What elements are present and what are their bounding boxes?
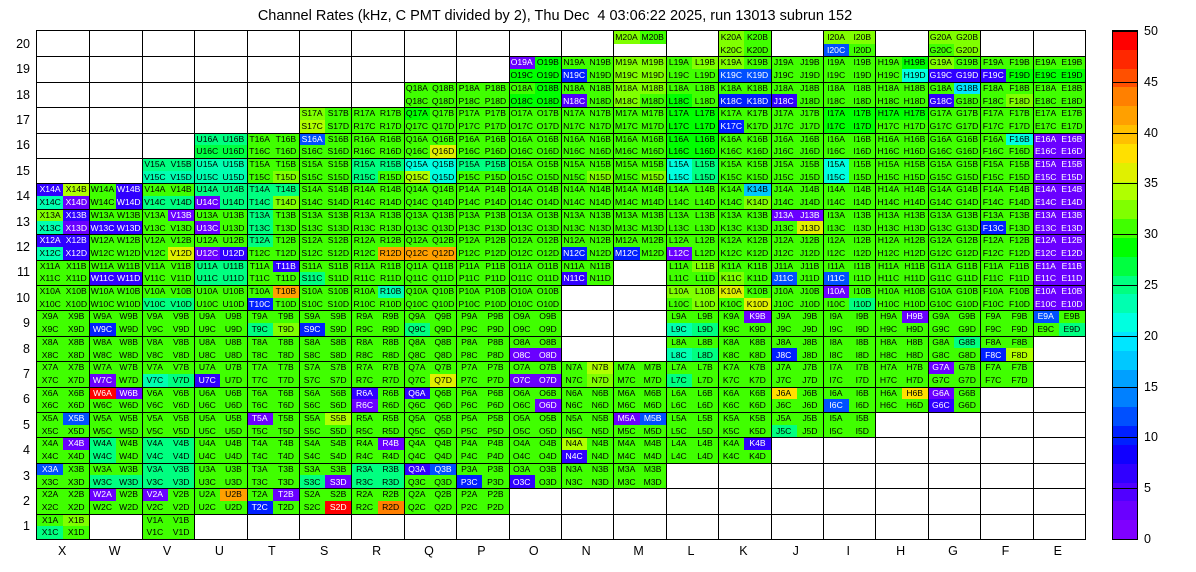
heatmap-channel-l10c: L10C [666,298,692,311]
heatmap-channel-t9d: T9D [273,323,299,336]
heatmap-channel-j9d: J9D [797,323,823,336]
heatmap-channel-u3c: U3C [194,475,220,488]
heatmap-module-q9: Q9AQ9BQ9CQ9D [404,310,456,335]
heatmap-channel-x11c: X11C [37,272,63,285]
heatmap-channel-g20c: G20C [928,44,954,57]
heatmap-channel-p5d: P5D [482,425,508,438]
heatmap-channel-m14c: M14C [613,196,639,209]
heatmap-channel-i6a: I6A [823,387,849,400]
heatmap-channel-k16c: K16C [718,145,744,158]
heatmap-channel-h14b: H14B [902,183,928,196]
heatmap-module-f11: F11AF11BF11CF11D [980,260,1032,285]
heatmap-channel-v14b: V14B [168,183,194,196]
heatmap-channel-s17b: S17B [325,107,351,120]
heatmap-channel-j8b: J8B [797,336,823,349]
heatmap-module-t5: T5AT5BT5CT5D [247,412,299,437]
heatmap-module-g12: G12AG12BG12CG12D [928,234,980,259]
colorbar-label-10: 10 [1144,430,1158,444]
heatmap-channel-w5a: W5A [89,412,115,425]
y-tick-7: 7 [6,367,30,381]
heatmap-channel-r13c: R13C [351,221,377,234]
heatmap-channel-h17b: H17B [902,107,928,120]
heatmap-channel-o3a: O3A [509,463,535,476]
heatmap-module-u15: U15AU15BU15CU15D [194,158,246,183]
heatmap-channel-f10c: F10C [980,298,1006,311]
heatmap-channel-k8c: K8C [718,348,744,361]
heatmap-channel-i16c: I16C [823,145,849,158]
heatmap-module-j9: J9AJ9BJ9CJ9D [771,310,823,335]
heatmap-channel-s5d: S5D [325,425,351,438]
heatmap-channel-t16b: T16B [273,133,299,146]
heatmap-channel-f17b: F17B [1006,107,1032,120]
colorbar-segment [1113,69,1137,88]
heatmap-module-q3: Q3AQ3BQ3CQ3D [404,463,456,488]
heatmap-channel-h15d: H15D [902,171,928,184]
heatmap-channel-k4b: K4B [744,437,770,450]
heatmap-channel-w14c: W14C [89,196,115,209]
heatmap-channel-u5d: U5D [220,425,246,438]
heatmap-channel-u7c: U7C [194,374,220,387]
heatmap-channel-g17a: G17A [928,107,954,120]
heatmap-channel-s15a: S15A [299,158,325,171]
heatmap-channel-n6d: N6D [587,399,613,412]
y-tick-9: 9 [6,316,30,330]
heatmap-channel-q17c: Q17C [404,120,430,133]
heatmap-channel-u9c: U9C [194,323,220,336]
heatmap-module-h18: H18AH18BH18CH18D [875,82,927,107]
heatmap-channel-q14b: Q14B [430,183,456,196]
x-tick-s: S [320,544,328,558]
heatmap-channel-f17c: F17C [980,120,1006,133]
colorbar-tick [1112,234,1138,235]
heatmap-channel-r12c: R12C [351,247,377,260]
heatmap-channel-r16d: R16D [378,145,404,158]
heatmap-channel-t7d: T7D [273,374,299,387]
heatmap-channel-q11a: Q11A [404,260,430,273]
heatmap-channel-w12b: W12B [116,234,142,247]
heatmap-channel-h12c: H12C [875,247,901,260]
heatmap-channel-o14b: O14B [535,183,561,196]
heatmap-channel-o15d: O15D [535,171,561,184]
heatmap-channel-r14b: R14B [378,183,404,196]
heatmap-channel-n12a: N12A [561,234,587,247]
heatmap-channel-s14c: S14C [299,196,325,209]
heatmap-module-u7: U7AU7BU7CU7D [194,361,246,386]
heatmap-channel-e14b: E14B [1059,183,1085,196]
heatmap-channel-g12c: G12C [928,247,954,260]
heatmap-channel-x10a: X10A [37,285,63,298]
heatmap-channel-s12a: S12A [299,234,325,247]
heatmap-channel-k17c: K17C [718,120,744,133]
heatmap-channel-m18c: M18C [613,94,639,107]
heatmap-channel-x6a: X6A [37,387,63,400]
heatmap-channel-i10b: I10B [849,285,875,298]
heatmap-module-s15: S15AS15BS15CS15D [299,158,351,183]
heatmap-channel-g9c: G9C [928,323,954,336]
heatmap-module-t7: T7AT7BT7CT7D [247,361,299,386]
heatmap-module-o3: O3AO3BO3CO3D [509,463,561,488]
heatmap-module-r5: R5AR5BR5CR5D [351,412,403,437]
heatmap-channel-x7c: X7C [37,374,63,387]
heatmap-channel-o11b: O11B [535,260,561,273]
heatmap-channel-p7d: P7D [482,374,508,387]
heatmap-channel-g12d: G12D [954,247,980,260]
heatmap-channel-l9c: L9C [666,323,692,336]
heatmap-channel-u16c: U16C [194,145,220,158]
heatmap-channel-i8c: I8C [823,348,849,361]
heatmap-channel-i5d: I5D [849,425,875,438]
heatmap-channel-s10d: S10D [325,298,351,311]
heatmap-module-k6: K6AK6BK6CK6D [718,387,770,412]
heatmap-channel-k19a: K19A [718,56,744,69]
heatmap-channel-v13c: V13C [142,221,168,234]
heatmap-channel-n13d: N13D [587,221,613,234]
heatmap-channel-o17a: O17A [509,107,535,120]
heatmap-channel-q11b: Q11B [430,260,456,273]
heatmap-module-k18: K18AK18BK18CK18D [718,82,770,107]
heatmap-channel-g12b: G12B [954,234,980,247]
heatmap-channel-l11a: L11A [666,260,692,273]
page-title: Channel Rates (kHz, C PMT divided by 2),… [0,8,1110,24]
heatmap-module-v12: V12AV12BV12CV12D [142,234,194,259]
heatmap-channel-s15b: S15B [325,158,351,171]
heatmap-channel-s10b: S10B [325,285,351,298]
heatmap-channel-p3b: P3B [482,463,508,476]
heatmap-channel-q2d: Q2D [430,501,456,514]
heatmap-channel-e17d: E17D [1059,120,1085,133]
heatmap-channel-n18c: N18C [561,94,587,107]
heatmap-channel-f10d: F10D [1006,298,1032,311]
heatmap-channel-n14c: N14C [561,196,587,209]
heatmap-channel-o6b: O6B [535,387,561,400]
heatmap-channel-n17b: N17B [587,107,613,120]
y-tick-20: 20 [6,37,30,51]
heatmap-channel-v3d: V3D [168,475,194,488]
heatmap-channel-x7a: X7A [37,361,63,374]
heatmap-channel-w4b: W4B [116,437,142,450]
heatmap-channel-p2c: P2C [456,501,482,514]
heatmap-channel-o4b: O4B [535,437,561,450]
heatmap-channel-k14d: K14D [744,196,770,209]
heatmap-channel-q3c: Q3C [404,475,430,488]
heatmap-channel-m18b: M18B [640,82,666,95]
heatmap-module-p18: P18AP18BP18CP18D [456,82,508,107]
heatmap-channel-t4c: T4C [247,450,273,463]
heatmap-module-n3: N3AN3BN3CN3D [561,463,613,488]
heatmap-module-n11: N11AN11BN11CN11D [561,260,613,285]
x-tick-i: I [846,544,849,558]
heatmap-channel-e12a: E12A [1033,234,1059,247]
heatmap-channel-p10c: P10C [456,298,482,311]
heatmap-channel-q8a: Q8A [404,336,430,349]
heatmap-channel-s9c: S9C [299,323,325,336]
x-tick-h: H [896,544,905,558]
heatmap-channel-t9c: T9C [247,323,273,336]
heatmap-channel-m16b: M16B [640,133,666,146]
heatmap-channel-t5a: T5A [247,412,273,425]
heatmap-channel-f17d: F17D [1006,120,1032,133]
heatmap-channel-u8c: U8C [194,348,220,361]
heatmap-module-k16: K16AK16BK16CK16D [718,133,770,158]
heatmap-channel-s6c: S6C [299,399,325,412]
heatmap-channel-q5d: Q5D [430,425,456,438]
heatmap-channel-p5c: P5C [456,425,482,438]
heatmap-channel-i8d: I8D [849,348,875,361]
heatmap-channel-i11a: I11A [823,260,849,273]
heatmap-module-l7: L7AL7BL7CL7D [666,361,718,386]
heatmap-channel-u16a: U16A [194,133,220,146]
heatmap-channel-m19d: M19D [640,69,666,82]
heatmap-module-x13: X13AX13BX13CX13D [37,209,89,234]
heatmap-channel-p14d: P14D [482,196,508,209]
heatmap-channel-w11b: W11B [116,260,142,273]
heatmap-channel-u10d: U10D [220,298,246,311]
heatmap-channel-p18d: P18D [482,94,508,107]
colorbar-label-35: 35 [1144,176,1158,190]
heatmap-channel-x5d: X5D [63,425,89,438]
heatmap-channel-w3c: W3C [89,475,115,488]
heatmap-channel-k14c: K14C [718,196,744,209]
heatmap-module-p14: P14AP14BP14CP14D [456,183,508,208]
heatmap-channel-p7b: P7B [482,361,508,374]
heatmap-module-g10: G10AG10BG10CG10D [928,285,980,310]
heatmap-module-i12: I12AI12BI12CI12D [823,234,875,259]
y-tick-17: 17 [6,113,30,127]
heatmap-channel-l19c: L19C [666,69,692,82]
heatmap-channel-i20a: I20A [823,31,849,44]
heatmap-channel-r9a: R9A [351,310,377,323]
heatmap-channel-v11b: V11B [168,260,194,273]
heatmap-module-k20: K20AK20BK20CK20D [718,31,770,56]
heatmap-channel-x1a: X1A [37,514,63,527]
heatmap-channel-v8b: V8B [168,336,194,349]
heatmap-channel-g16c: G16C [928,145,954,158]
heatmap-channel-p16c: P16C [456,145,482,158]
heatmap-module-s5: S5AS5BS5CS5D [299,412,351,437]
heatmap-channel-m6b: M6B [640,387,666,400]
heatmap-module-o15: O15AO15BO15CO15D [509,158,561,183]
heatmap-module-o5: O5AO5BO5CO5D [509,412,561,437]
x-tick-t: T [268,544,276,558]
heatmap-module-m15: M15AM15BM15CM15D [613,158,665,183]
heatmap-module-p2: P2AP2BP2CP2D [456,488,508,513]
heatmap-channel-n19a: N19A [561,56,587,69]
heatmap-channel-x5a: X5A [37,412,63,425]
heatmap-channel-v1a: V1A [142,514,168,527]
heatmap-channel-r17c: R17C [351,120,377,133]
heatmap-channel-i10a: I10A [823,285,849,298]
heatmap-channel-v14c: V14C [142,196,168,209]
heatmap-channel-u6c: U6C [194,399,220,412]
heatmap-channel-l15a: L15A [666,158,692,171]
heatmap-channel-o5c: O5C [509,425,535,438]
heatmap-channel-x1d: X1D [63,526,89,539]
heatmap-channel-u15d: U15D [220,171,246,184]
heatmap-channel-u7b: U7B [220,361,246,374]
heatmap-channel-g10a: G10A [928,285,954,298]
heatmap-channel-g11b: G11B [954,260,980,273]
colorbar-label-40: 40 [1144,126,1158,140]
heatmap-channel-o3c: O3C [509,475,535,488]
heatmap-module-m20: M20AM20B [613,31,665,56]
heatmap-channel-q3d: Q3D [430,475,456,488]
heatmap-channel-v10d: V10D [168,298,194,311]
heatmap-channel-i14c: I14C [823,196,849,209]
heatmap-channel-r15c: R15C [351,171,377,184]
heatmap-channel-m20c [613,44,639,57]
heatmap-channel-q15d: Q15D [430,171,456,184]
heatmap-channel-n7b: N7B [587,361,613,374]
heatmap-module-i15: I15AI15BI15CI15D [823,158,875,183]
x-tick-x: X [58,544,66,558]
heatmap-channel-s16d: S16D [325,145,351,158]
heatmap-channel-n16b: N16B [587,133,613,146]
colorbar-tick [1112,336,1138,337]
heatmap-channel-s12d: S12D [325,247,351,260]
colorbar-segment [1113,464,1137,483]
heatmap-module-k14: K14AK14BK14CK14D [718,183,770,208]
heatmap-channel-u12a: U12A [194,234,220,247]
heatmap-channel-n11b: N11B [587,260,613,273]
heatmap-channel-t14a: T14A [247,183,273,196]
heatmap-channel-f15d: F15D [1006,171,1032,184]
heatmap-channel-i18c: I18C [823,94,849,107]
colorbar-segment [1113,31,1137,50]
heatmap-channel-p10a: P10A [456,285,482,298]
heatmap-channel-u8d: U8D [220,348,246,361]
heatmap-channel-i16d: I16D [849,145,875,158]
heatmap-channel-k16d: K16D [744,145,770,158]
heatmap-channel-x4a: X4A [37,437,63,450]
heatmap-module-w11: W11AW11BW11CW11D [89,260,141,285]
heatmap-channel-q18a: Q18A [404,82,430,95]
heatmap-module-k19: K19AK19BK19CK19D [718,56,770,81]
heatmap-channel-f8c: F8C [980,348,1006,361]
heatmap-channel-p8c: P8C [456,348,482,361]
heatmap-module-q10: Q10AQ10BQ10CQ10D [404,285,456,310]
heatmap-module-t11: T11AT11BT11CT11D [247,260,299,285]
heatmap-channel-k18b: K18B [744,82,770,95]
heatmap-channel-r17b: R17B [378,107,404,120]
heatmap-channel-s4a: S4A [299,437,325,450]
heatmap-module-v10: V10AV10BV10CV10D [142,285,194,310]
heatmap-channel-k20a: K20A [718,31,744,44]
heatmap-channel-q15c: Q15C [404,171,430,184]
heatmap-channel-u9d: U9D [220,323,246,336]
heatmap-channel-g10b: G10B [954,285,980,298]
heatmap-channel-k20c: K20C [718,44,744,57]
heatmap-channel-t10c: T10C [247,298,273,311]
heatmap-channel-n19b: N19B [587,56,613,69]
heatmap-channel-h19d: H19D [902,69,928,82]
heatmap-module-x2: X2AX2BX2CX2D [37,488,89,513]
heatmap-module-q2: Q2AQ2BQ2CQ2D [404,488,456,513]
heatmap-channel-l14d: L14D [692,196,718,209]
heatmap-module-i8: I8AI8BI8CI8D [823,336,875,361]
heatmap-module-q13: Q13AQ13BQ13CQ13D [404,209,456,234]
heatmap-channel-f13c: F13C [980,221,1006,234]
heatmap-channel-e10b: E10B [1059,285,1085,298]
heatmap-module-e16: E16AE16BE16CE16D [1033,133,1085,158]
heatmap-channel-w11a: W11A [89,260,115,273]
heatmap-channel-r14c: R14C [351,196,377,209]
heatmap-channel-g15a: G15A [928,158,954,171]
heatmap-module-h8: H8AH8BH8CH8D [875,336,927,361]
heatmap-module-r12: R12AR12BR12CR12D [351,234,403,259]
heatmap-module-p16: P16AP16BP16CP16D [456,133,508,158]
heatmap-channel-m15a: M15A [613,158,639,171]
heatmap-channel-u14a: U14A [194,183,220,196]
heatmap-channel-q8d: Q8D [430,348,456,361]
heatmap-channel-v15c: V15C [142,171,168,184]
heatmap-channel-i15d: I15D [849,171,875,184]
heatmap-module-k8: K8AK8BK8CK8D [718,336,770,361]
heatmap-channel-l12c: L12C [666,247,692,260]
heatmap-module-u2: U2AU2BU2CU2D [194,488,246,513]
heatmap-channel-o10c: O10C [509,298,535,311]
heatmap-channel-u13a: U13A [194,209,220,222]
heatmap-module-i6: I6AI6BI6CI6D [823,387,875,412]
heatmap-channel-r11a: R11A [351,260,377,273]
heatmap-channel-h16c: H16C [875,145,901,158]
heatmap-channel-u4d: U4D [220,450,246,463]
heatmap-channel-x9a: X9A [37,310,63,323]
heatmap-channel-w9a: W9A [89,310,115,323]
heatmap-module-p17: P17AP17BP17CP17D [456,107,508,132]
heatmap-module-g11: G11AG11BG11CG11D [928,260,980,285]
heatmap-channel-x11d: X11D [63,272,89,285]
heatmap-channel-p15b: P15B [482,158,508,171]
heatmap-channel-m12a: M12A [613,234,639,247]
heatmap-module-o6: O6AO6BO6CO6D [509,387,561,412]
heatmap-channel-g8d: G8D [954,348,980,361]
heatmap-channel-u10c: U10C [194,298,220,311]
heatmap-module-e18: E18AE18BE18CE18D [1033,82,1085,107]
heatmap-channel-u14c: U14C [194,196,220,209]
colorbar-tick [1112,488,1138,489]
heatmap-channel-x9d: X9D [63,323,89,336]
heatmap-channel-t7a: T7A [247,361,273,374]
heatmap-channel-v12d: V12D [168,247,194,260]
heatmap-channel-j19b: J19B [797,56,823,69]
heatmap-channel-u9a: U9A [194,310,220,323]
x-tick-e: E [1054,544,1062,558]
heatmap-module-n18: N18AN18BN18CN18D [561,82,613,107]
heatmap-channel-j6c: J6C [771,399,797,412]
heatmap-channel-w10a: W10A [89,285,115,298]
heatmap-channel-i9c: I9C [823,323,849,336]
heatmap-channel-p12a: P12A [456,234,482,247]
heatmap-channel-r6a: R6A [351,387,377,400]
heatmap-module-i7: I7AI7BI7CI7D [823,361,875,386]
heatmap-channel-k13c: K13C [718,221,744,234]
heatmap-channel-f12b: F12B [1006,234,1032,247]
heatmap-module-n5: N5AN5BN5CN5D [561,412,613,437]
heatmap-channel-x2d: X2D [63,501,89,514]
x-tick-f: F [1002,544,1010,558]
heatmap-channel-w2c: W2C [89,501,115,514]
heatmap-channel-n3a: N3A [561,463,587,476]
heatmap-channel-r7b: R7B [378,361,404,374]
heatmap-module-t15: T15AT15BT15CT15D [247,158,299,183]
heatmap-channel-g16a: G16A [928,133,954,146]
heatmap-channel-w6a: W6A [89,387,115,400]
heatmap-module-v11: V11AV11BV11CV11D [142,260,194,285]
heatmap-channel-t12c: T12C [247,247,273,260]
heatmap-channel-t15d: T15D [273,171,299,184]
grid-hline [37,133,1085,134]
heatmap-module-t3: T3AT3BT3CT3D [247,463,299,488]
